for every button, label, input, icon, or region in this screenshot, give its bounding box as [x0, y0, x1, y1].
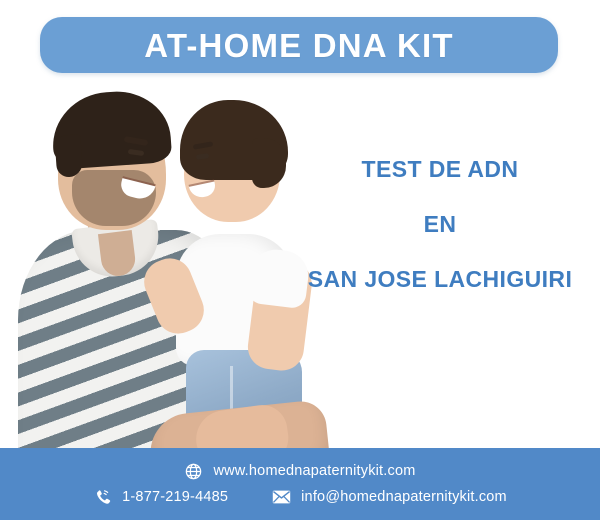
man-hair: [50, 88, 173, 170]
phone-icon: [93, 488, 112, 507]
child-hair: [180, 100, 288, 180]
email-contact[interactable]: info@homednapaternitykit.com: [272, 488, 507, 507]
website-text: www.homednapaternitykit.com: [213, 464, 415, 479]
headline-line-3: SAN JOSE LACHIGUIRI: [292, 268, 588, 291]
email-text: info@homednapaternitykit.com: [301, 490, 507, 505]
hero-photo: [0, 78, 330, 478]
envelope-icon: [272, 488, 291, 507]
phone-text: 1-877-219-4485: [122, 490, 228, 505]
headline-line-1: TEST DE ADN: [292, 158, 588, 181]
phone-contact[interactable]: 1-877-219-4485: [93, 488, 228, 507]
footer-row-website: www.homednapaternitykit.com: [184, 462, 415, 481]
website-contact[interactable]: www.homednapaternitykit.com: [184, 462, 415, 481]
header-pill: AT-HOME DNA KIT: [40, 17, 558, 73]
hero-photo-illustration: [0, 78, 330, 478]
headline-block: TEST DE ADN EN SAN JOSE LACHIGUIRI: [292, 158, 588, 291]
page-title: AT-HOME DNA KIT: [144, 29, 453, 62]
globe-icon: [184, 462, 203, 481]
headline-line-2: EN: [292, 213, 588, 236]
contact-footer: www.homednapaternitykit.com 1-877-219-44…: [0, 448, 600, 520]
footer-row-phone-email: 1-877-219-4485 info@homednapaternitykit.…: [93, 488, 507, 507]
banner-root: AT-HOME DNA KIT T: [0, 0, 600, 520]
